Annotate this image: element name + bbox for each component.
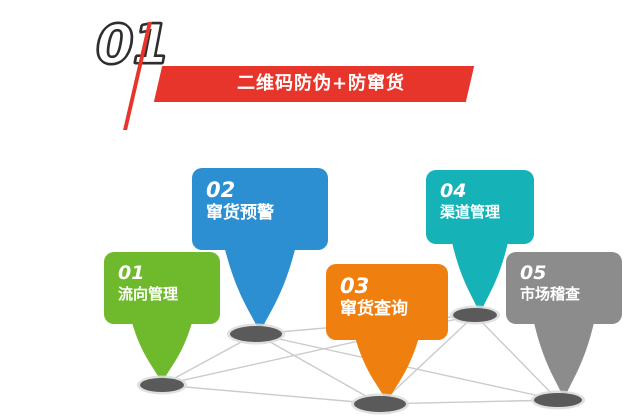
connector-line bbox=[162, 334, 256, 385]
connector-line bbox=[475, 315, 558, 400]
connector-line bbox=[256, 334, 380, 404]
network-connections bbox=[0, 0, 643, 417]
connector-line bbox=[256, 334, 558, 400]
connector-line bbox=[256, 315, 475, 334]
pin-network-diagram: 01流向管理02窜货预警03窜货查询04渠道管理05市场稽查 bbox=[0, 0, 643, 417]
slide-canvas: 01 二维码防伪+防窜货 01流向管理02窜货预警03窜货查询04渠道管理05市… bbox=[0, 0, 643, 417]
connector-line bbox=[380, 315, 475, 404]
connector-line bbox=[162, 315, 475, 385]
connector-line bbox=[380, 400, 558, 404]
connector-line bbox=[162, 385, 380, 404]
